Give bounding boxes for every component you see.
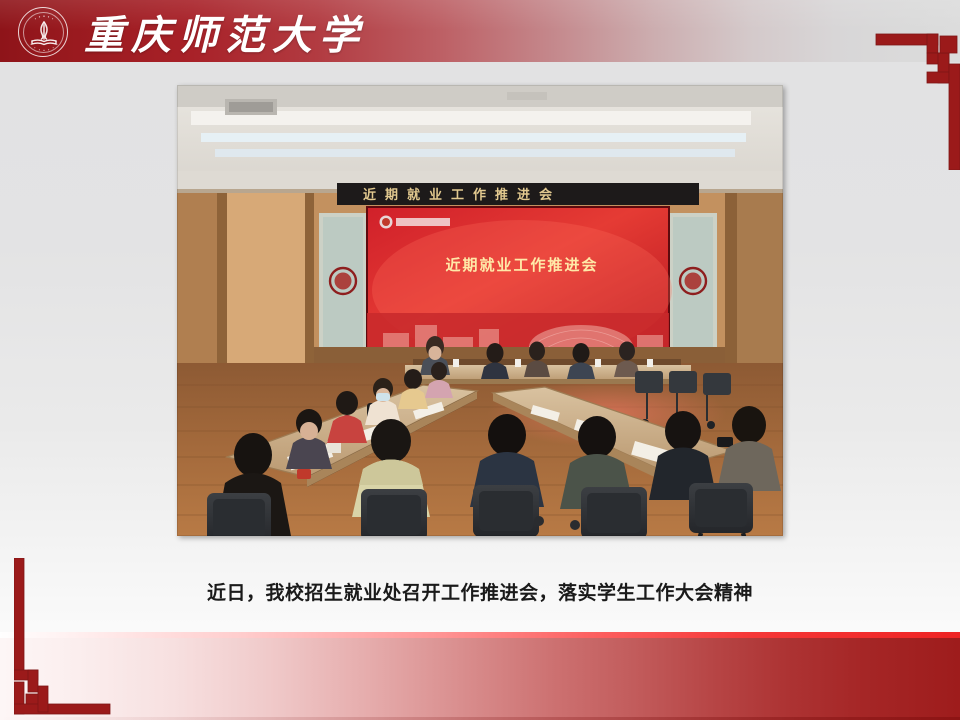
university-wordmark: 重庆师范大学: [84, 6, 366, 58]
slide-header-band: 重庆师范大学: [0, 0, 960, 62]
slide-footer-highlight: [0, 632, 960, 638]
meeting-photo: 近期就业工作推进会 近期就业工作推进会: [177, 85, 783, 536]
presentation-slide: 重庆师范大学: [0, 0, 960, 720]
university-crest-icon: [18, 7, 68, 57]
svg-text:近期就业工作推进会: 近期就业工作推进会: [445, 256, 598, 274]
meeting-photo-frame: 近期就业工作推进会 近期就业工作推进会: [177, 85, 783, 536]
slide-caption: 近日，我校招生就业处召开工作推进会，落实学生工作大会精神: [0, 578, 960, 605]
slide-footer-band: [0, 632, 960, 720]
corner-ornament-bottom-left-icon: [14, 558, 114, 720]
svg-text:近期就业工作推进会: 近期就业工作推进会: [363, 187, 561, 202]
corner-ornament-top-right-icon: [854, 8, 960, 170]
